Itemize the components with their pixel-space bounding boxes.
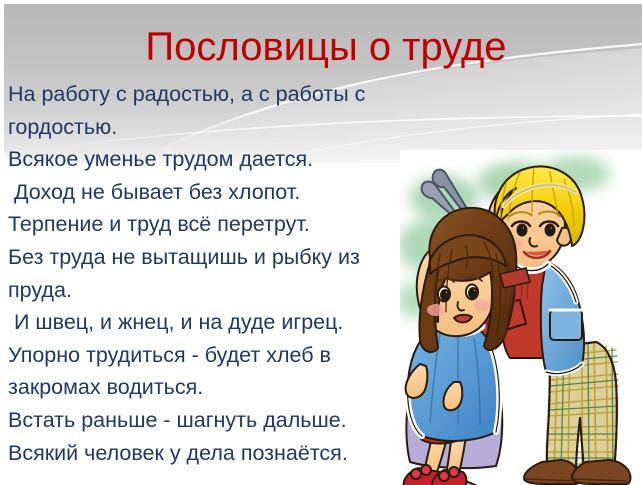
proverb-line: На работу с радостью, а с работы с гордо…: [8, 78, 428, 143]
proverb-list: На работу с радостью, а с работы с гордо…: [8, 78, 428, 469]
proverb-line: Всякий человек у дела познаётся.: [8, 437, 428, 470]
proverb-line: И швец, и жнец, и на дуде игрец.: [8, 306, 428, 339]
proverb-line: Упорно трудиться - будет хлеб в закромах…: [8, 339, 428, 404]
proverb-line: Встать раньше - шагнуть дальше.: [8, 404, 428, 437]
page-title: Пословицы о труде: [0, 24, 642, 70]
illustration-boy-barber: [400, 150, 642, 485]
proverb-line: Без труда не вытащишь и рыбку из пруда.: [8, 241, 428, 306]
slide: Пословицы о труде На работу с радостью, …: [0, 0, 642, 485]
proverb-line: Доход не бывает без хлопот.: [8, 176, 428, 209]
proverb-line: Терпение и труд всё перетрут.: [8, 208, 428, 241]
proverb-line: Всякое уменье трудом дается.: [8, 143, 428, 176]
